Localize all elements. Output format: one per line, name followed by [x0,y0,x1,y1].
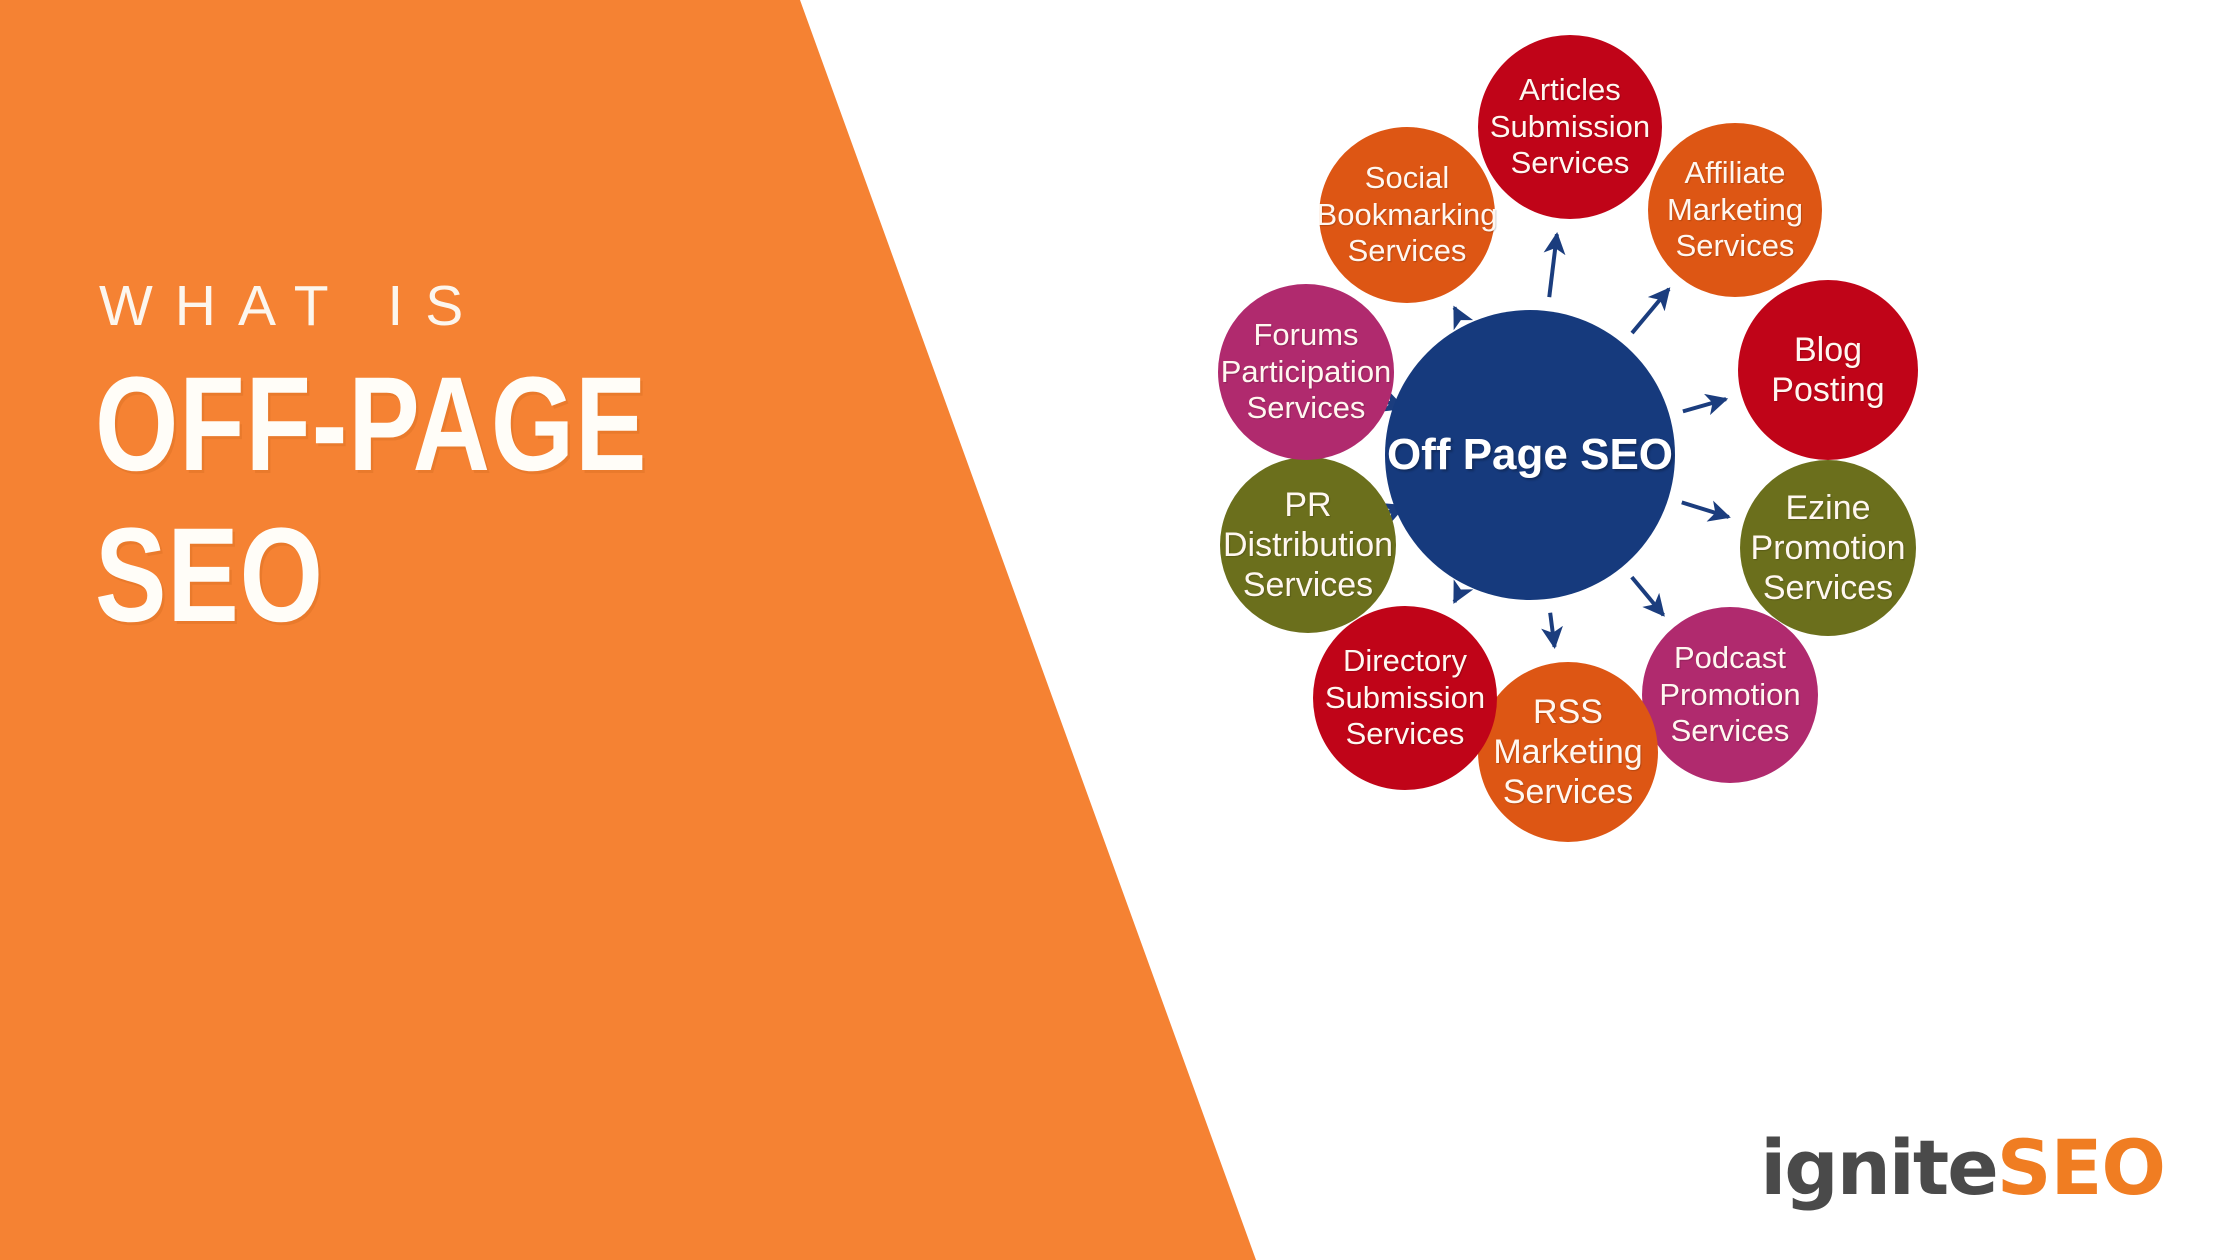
diagram-node-directory-submission-services[interactable]: Directory Submission Services [1313,606,1497,790]
headline-title-line1: OFF-PAGE [95,361,671,490]
diagram-node-forums-participation-services[interactable]: Forums Participation Services [1218,284,1394,460]
logo-wordmark-ignite: ignite [1760,1123,1996,1212]
diagram-node-label: Forums Participation Services [1215,317,1398,427]
diagram-hub-off-page-seo[interactable]: Off Page SEO [1385,310,1675,600]
diagram-node-label: Ezine Promotion Services [1740,488,1916,608]
diagram-node-ezine-promotion-services[interactable]: Ezine Promotion Services [1740,460,1916,636]
diagram-node-label: Social Bookmarking Services [1311,160,1504,270]
logo-wordmark-seo: SEO [1997,1123,2165,1212]
diagram-node-label: Affiliate Marketing Services [1648,155,1822,265]
diagram-node-label: Articles Submission Services [1478,72,1662,182]
spoke-arrow-blog-posting [1683,399,1726,411]
spoke-arrow-articles-submission-services [1549,234,1557,297]
diagram-node-label: Podcast Promotion Services [1642,640,1818,750]
diagram-node-articles-submission-services[interactable]: Articles Submission Services [1478,35,1662,219]
diagram-node-rss-marketing-services[interactable]: RSS Marketing Services [1478,662,1658,842]
infographic-canvas: WHAT IS OFF-PAGE SEO Off Page SEO Articl… [0,0,2240,1260]
headline-kicker: WHAT IS [99,278,815,335]
off-page-seo-diagram: Off Page SEO Articles Submission Service… [1150,0,2240,1110]
diagram-node-label: Blog Posting [1738,330,1918,410]
headline-block: WHAT IS OFF-PAGE SEO [95,278,815,640]
spoke-arrow-directory-submission-services [1454,596,1457,602]
diagram-node-pr-distribution-services[interactable]: PR Distribution Services [1220,457,1396,633]
spoke-arrow-affiliate-marketing-services [1632,289,1669,333]
spoke-arrow-rss-marketing-services [1550,613,1554,647]
diagram-node-podcast-promotion-services[interactable]: Podcast Promotion Services [1642,607,1818,783]
spoke-arrow-podcast-promotion-services [1632,577,1664,615]
diagram-node-affiliate-marketing-services[interactable]: Affiliate Marketing Services [1648,123,1822,297]
diagram-node-social-bookmarking-services[interactable]: Social Bookmarking Services [1319,127,1495,303]
diagram-node-label: Directory Submission Services [1313,643,1497,753]
diagram-hub-label: Off Page SEO [1387,429,1673,482]
headline-title-line2: SEO [95,512,671,641]
ignite-seo-logo[interactable]: ignite SEO [1760,1123,2165,1212]
diagram-node-blog-posting[interactable]: Blog Posting [1738,280,1918,460]
spoke-arrow-social-bookmarking-services [1454,308,1457,314]
diagram-node-label: RSS Marketing Services [1478,692,1658,812]
diagram-node-label: PR Distribution Services [1217,485,1399,605]
spoke-arrow-ezine-promotion-services [1682,502,1729,517]
